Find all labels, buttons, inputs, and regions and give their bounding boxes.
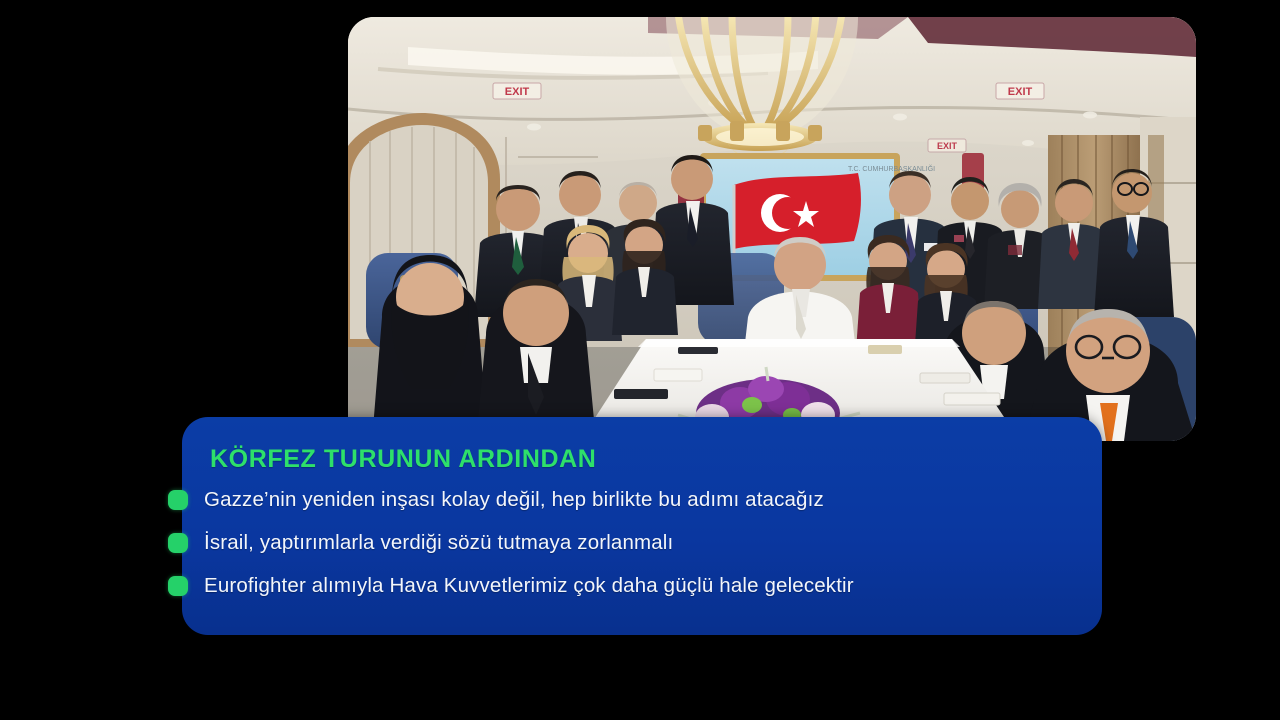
exit-sign-right: EXIT [996, 83, 1044, 99]
bullet-text: Gazze’nin yeniden inşası kolay değil, he… [204, 488, 824, 512]
caption-banner: KÖRFEZ TURUNUN ARDINDAN Gazze’nin yenide… [182, 417, 1102, 635]
svg-text:EXIT: EXIT [1008, 86, 1033, 98]
list-item: İsrail, yaptırımlarla verdiği sözü tutma… [168, 522, 1088, 563]
list-item: Gazze’nin yeniden inşası kolay değil, he… [168, 479, 1088, 520]
photo-scene: EXIT EXIT EXIT [348, 17, 1196, 441]
bullet-dot-icon [168, 576, 188, 596]
bullet-text: İsrail, yaptırımlarla verdiği sözü tutma… [204, 531, 673, 555]
svg-text:T.C. CUMHURBAŞKANLIĞI: T.C. CUMHURBAŞKANLIĞI [848, 164, 935, 173]
svg-text:EXIT: EXIT [937, 141, 958, 151]
news-photo: EXIT EXIT EXIT [348, 17, 1196, 441]
bullet-dot-icon [168, 490, 188, 510]
exit-sign-left: EXIT [493, 83, 541, 99]
bullet-dot-icon [168, 533, 188, 553]
banner-title: KÖRFEZ TURUNUN ARDINDAN [210, 445, 596, 474]
svg-text:EXIT: EXIT [505, 86, 530, 98]
bullet-text: Eurofighter alımıyla Hava Kuvvetlerimiz … [204, 574, 854, 598]
graphic-card: EXIT EXIT EXIT [0, 0, 1280, 720]
exit-sign-center: EXIT [928, 139, 966, 152]
list-item: Eurofighter alımıyla Hava Kuvvetlerimiz … [168, 565, 1088, 606]
bullet-list: Gazze’nin yeniden inşası kolay değil, he… [168, 479, 1088, 608]
